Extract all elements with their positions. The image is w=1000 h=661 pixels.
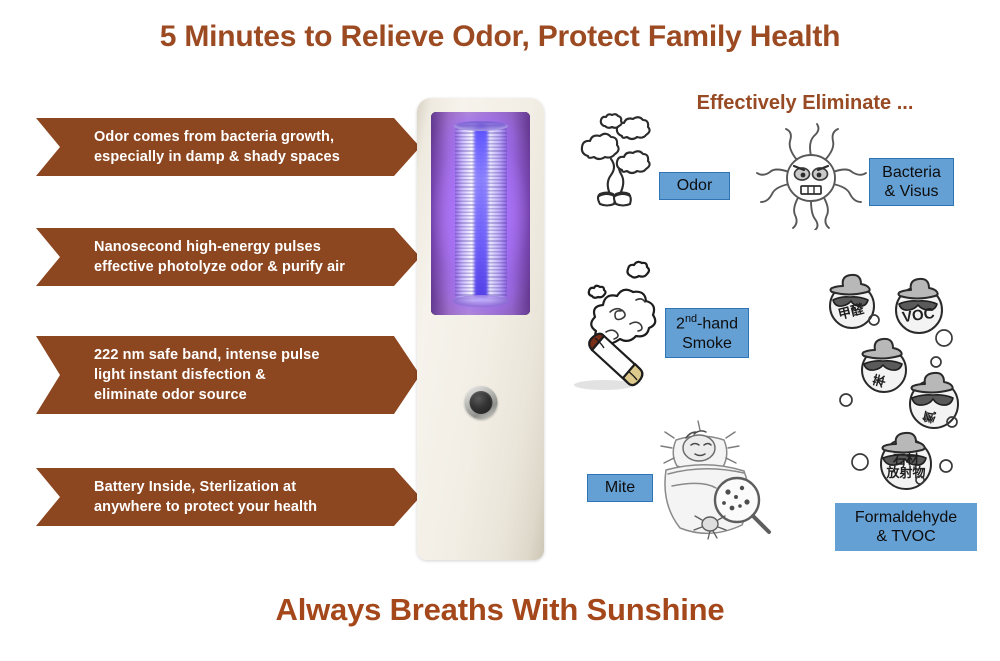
uv-tube-bottom-cap [453,295,509,307]
power-button[interactable] [464,386,497,419]
feature-banner-4-text: Battery Inside, Sterlization at anywhere… [94,477,317,517]
uv-tube-top-cap [454,121,508,131]
label-odor-text: Odor [677,176,713,195]
bacteria-germ-icon [752,122,870,230]
uv-quartz-tube [455,123,507,303]
eliminate-section-heading: Effectively Eliminate ... [650,92,960,115]
smelly-shoes-icon [566,108,662,216]
feature-banner-4: Battery Inside, Sterlization at anywhere… [36,468,420,526]
label-second-hand-smoke-text: 2nd-hand Smoke [676,313,738,353]
bottom-tagline: Always Breaths With Sunshine [0,592,1000,628]
label-mite: Mite [587,474,653,502]
feature-banner-1-text: Odor comes from bacteria growth, especia… [94,127,340,167]
uv-lamp-window [431,112,530,315]
page-title: 5 Minutes to Relieve Odor, Protect Famil… [0,20,1000,54]
feature-banner-3: 222 nm safe band, intense pulse light in… [36,336,420,414]
label-second-hand-smoke: 2nd-hand Smoke [665,308,749,358]
feature-banner-2-text: Nanosecond high-energy pulses effective … [94,237,345,277]
cigarette-smoke-icon [562,252,674,392]
label-bacteria-virus-text: Bacteria & Visus [882,163,941,201]
bubble-label-5b: 放射物 [885,465,925,481]
label-odor: Odor [659,172,730,200]
feature-banner-1: Odor comes from bacteria growth, especia… [36,118,420,176]
smoke-prefix: 2 [676,315,685,332]
smoke-ordinal-suffix: nd [685,313,697,325]
label-bacteria-virus: Bacteria & Visus [869,158,954,206]
feature-banner-3-text: 222 nm safe band, intense pulse light in… [94,345,320,405]
pollutant-bubbles-icon: .bubble { fill:#f3f3f3; stroke:#2a2a2a; … [802,266,980,498]
uv-core-filament [474,127,487,299]
product-device-image [417,98,544,560]
feature-banner-2: Nanosecond high-energy pulses effective … [36,228,420,286]
label-formaldehyde-tvoc-text: Formaldehyde & TVOC [855,508,957,546]
dust-mite-bed-icon [652,418,774,546]
power-button-inner [469,391,492,414]
label-mite-text: Mite [605,478,635,497]
label-formaldehyde-tvoc: Formaldehyde & TVOC [835,503,977,551]
